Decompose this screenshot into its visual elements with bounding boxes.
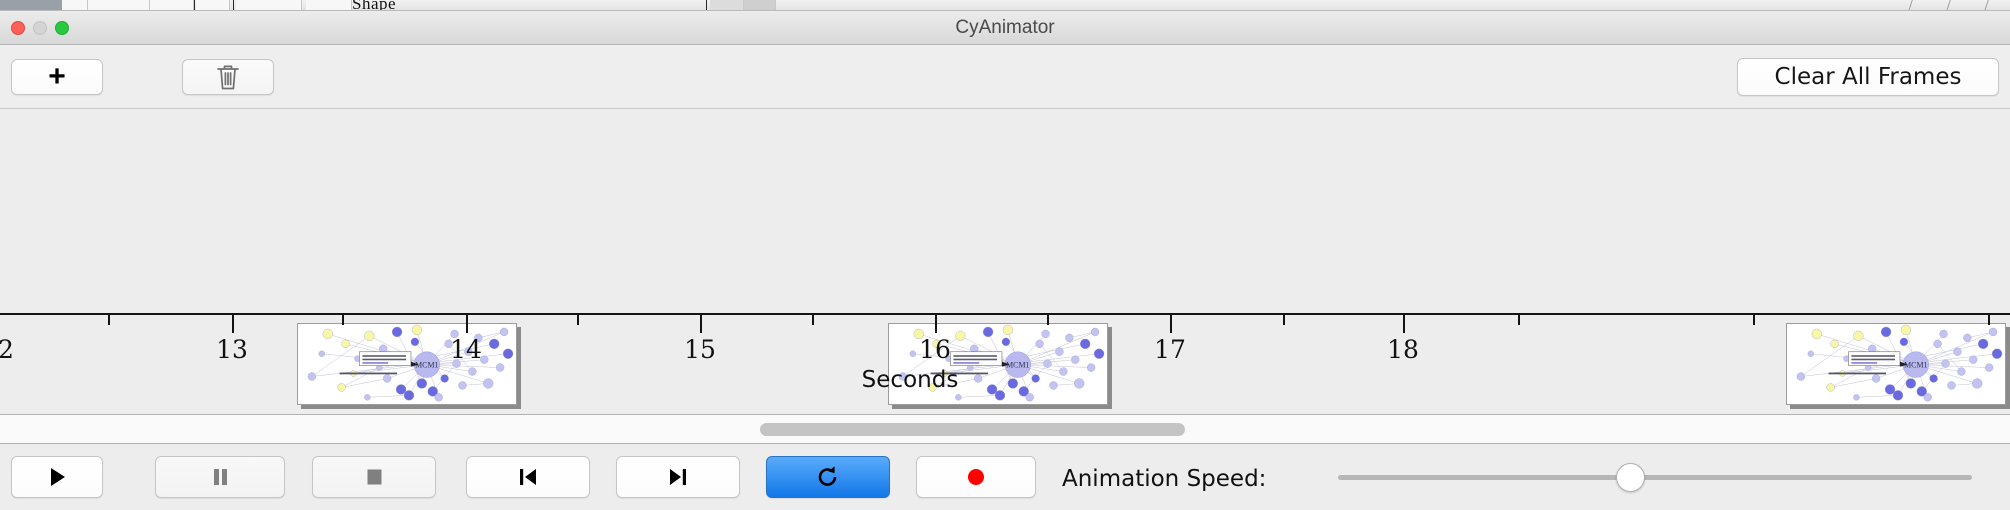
axis-tick-minor: [1518, 315, 1520, 325]
skip-to-end-button[interactable]: [616, 456, 740, 498]
axis-tick-label: 15: [670, 335, 730, 364]
background-selected-tab: [0, 0, 62, 11]
animation-speed-label: Animation Speed:: [1062, 466, 1266, 492]
cyanimator-window: Shape CyAnimator + Clear All Frames MCM1…: [0, 0, 2010, 510]
skip-forward-icon: [665, 464, 691, 490]
axis-tick-major: [232, 315, 234, 333]
play-icon: [44, 464, 70, 490]
axis-tick-minor: [577, 315, 579, 325]
slider-thumb[interactable]: [1616, 463, 1645, 492]
axis-title: Seconds: [0, 367, 1820, 393]
axis-tick-label: 12: [0, 335, 28, 364]
axis-tick-minor: [1047, 315, 1049, 325]
axis-tick-minor: [812, 315, 814, 325]
delete-frame-button[interactable]: [182, 59, 274, 95]
axis-tick-minor: [108, 315, 110, 325]
axis-tick-major: [1403, 315, 1405, 333]
record-button[interactable]: [916, 456, 1036, 498]
axis-tick-major: [700, 315, 702, 333]
axis-tick-major: [1170, 315, 1172, 333]
window-title: CyAnimator: [0, 11, 2010, 45]
axis-tick-minor: [1283, 315, 1285, 325]
slider-track[interactable]: [1338, 475, 1972, 480]
background-shape-label: Shape: [352, 0, 396, 11]
axis-tick-label: 14: [436, 335, 496, 364]
axis-tick-label: 16: [905, 335, 965, 364]
stop-icon: [361, 464, 387, 490]
timeline-panel[interactable]: MCM1MCM1MCM1 12131415161718 Seconds: [0, 109, 2010, 415]
trash-icon: [215, 63, 241, 91]
record-icon: [963, 464, 989, 490]
play-button[interactable]: [11, 456, 103, 498]
window-title-bar: CyAnimator: [0, 11, 2010, 45]
clear-all-frames-button[interactable]: Clear All Frames: [1737, 58, 1999, 96]
loop-icon: [815, 464, 841, 490]
axis-tick-major: [935, 315, 937, 333]
pause-button[interactable]: [155, 456, 285, 498]
add-frame-button[interactable]: +: [11, 59, 103, 95]
axis-tick-label: 17: [1140, 335, 1200, 364]
playback-control-bar: Animation Speed:: [0, 444, 2010, 510]
stop-button[interactable]: [312, 456, 436, 498]
plus-icon: +: [48, 62, 66, 92]
axis-tick-major: [466, 315, 468, 333]
background-window-strip: Shape: [0, 0, 2010, 11]
animation-speed-slider[interactable]: [1338, 475, 1972, 480]
timeline-frame[interactable]: MCM1: [1786, 323, 2010, 409]
axis-tick-label: 13: [202, 335, 262, 364]
timeline-axis-line: [0, 313, 2010, 315]
svg-text:MCM1: MCM1: [1904, 361, 1927, 370]
frame-toolbar: + Clear All Frames: [0, 45, 2010, 109]
skip-to-start-button[interactable]: [466, 456, 590, 498]
axis-tick-minor: [342, 315, 344, 325]
pause-icon: [207, 464, 233, 490]
axis-tick-label: 18: [1373, 335, 1433, 364]
timeline-scrollbar[interactable]: [0, 415, 2010, 444]
axis-tick-minor: [1753, 315, 1755, 325]
axis-tick-minor: [1988, 315, 1990, 325]
timeline-scrollbar-thumb[interactable]: [760, 423, 1185, 436]
skip-back-icon: [515, 464, 541, 490]
loop-button[interactable]: [766, 456, 890, 498]
